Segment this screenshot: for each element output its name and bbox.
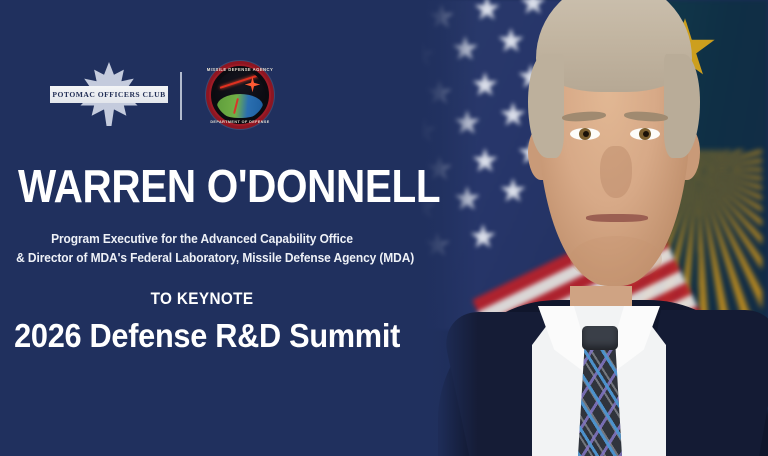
seal-earth-icon [217,94,263,118]
potomac-officers-club-wordmark-text: POTOMAC OFFICERS CLUB [52,90,165,99]
pupil-left [583,131,589,137]
event-role-label: TO KEYNOTE [20,289,384,309]
speaker-portrait [420,0,768,456]
photo-left-fade [420,0,478,456]
chin [570,236,662,282]
missile-defense-agency-seal[interactable]: MISSILE DEFENSE AGENCY DEPARTMENT OF DEF… [206,61,274,129]
logo-divider [180,72,182,120]
plaid-necktie [578,338,622,456]
event-title: 2026 Defense R&D Summit [14,316,390,356]
seal-inner-field [215,70,265,120]
potomac-officers-club-logo[interactable]: POTOMAC OFFICERS CLUB [50,64,168,126]
pupil-right [643,131,649,137]
mouth [586,214,648,222]
seal-top-text: MISSILE DEFENSE AGENCY [206,67,274,72]
seal-laser-beam-icon [220,73,262,88]
logo-row: POTOMAC OFFICERS CLUB MISSILE DEFENSE AG… [0,64,420,126]
necktie-knot [582,326,618,350]
hair-side-left [528,54,564,158]
speaker-name: WARREN O'DONNELL [18,163,440,209]
potomac-officers-club-wordmark: POTOMAC OFFICERS CLUB [50,86,168,103]
speaker-announcement-poster: POTOMAC OFFICERS CLUB MISSILE DEFENSE AG… [0,0,768,456]
speaker-title-line-1: Program Executive for the Advanced Capab… [16,229,388,248]
speaker-title-line-2: & Director of MDA's Federal Laboratory, … [16,248,388,267]
nose [600,146,632,198]
seal-bottom-text: DEPARTMENT OF DEFENSE [206,120,274,124]
